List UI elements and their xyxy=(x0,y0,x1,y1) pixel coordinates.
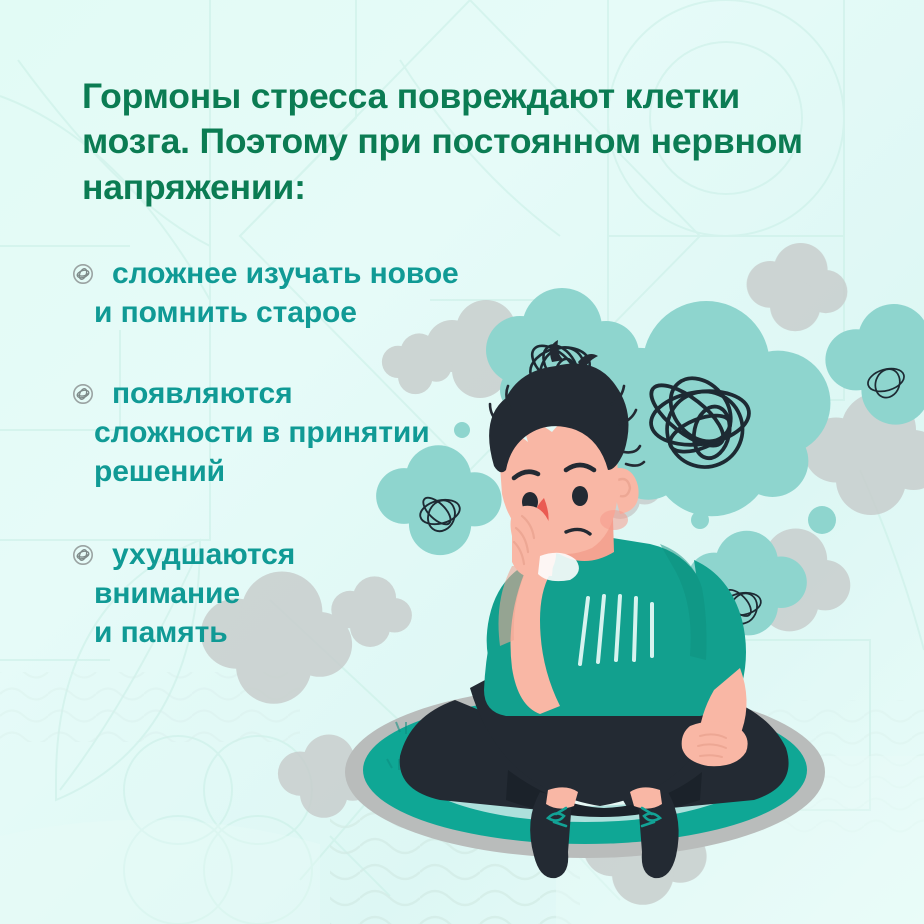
list-item-line: ухудшаются xyxy=(112,535,582,574)
page-title: Гормоны стресса повреждают клетки мозга.… xyxy=(82,74,830,210)
list-item-line: и помнить старое xyxy=(94,293,582,332)
list-item-line: сложности в принятии xyxy=(94,413,582,452)
list-item: сложнее изучать новое и помнить старое xyxy=(82,254,582,332)
scribble-circle-icon xyxy=(72,544,94,566)
list-item-line: решений xyxy=(94,452,582,491)
list-item: появляются сложности в принятии решений xyxy=(82,374,582,491)
list-item-line: появляются xyxy=(112,374,582,413)
list-item: ухудшаются внимание и память xyxy=(82,535,582,652)
text-column: Гормоны стресса повреждают клетки мозга.… xyxy=(82,74,842,652)
scribble-circle-icon xyxy=(72,383,94,405)
list-item-line: внимание xyxy=(94,574,582,613)
list-item-line: сложнее изучать новое xyxy=(112,254,582,293)
poster-canvas: Гормоны стресса повреждают клетки мозга.… xyxy=(0,0,924,924)
list-item-line: и память xyxy=(94,613,582,652)
scribble-circle-icon xyxy=(72,263,94,285)
symptom-list: сложнее изучать новое и помнить старое п… xyxy=(82,254,842,652)
